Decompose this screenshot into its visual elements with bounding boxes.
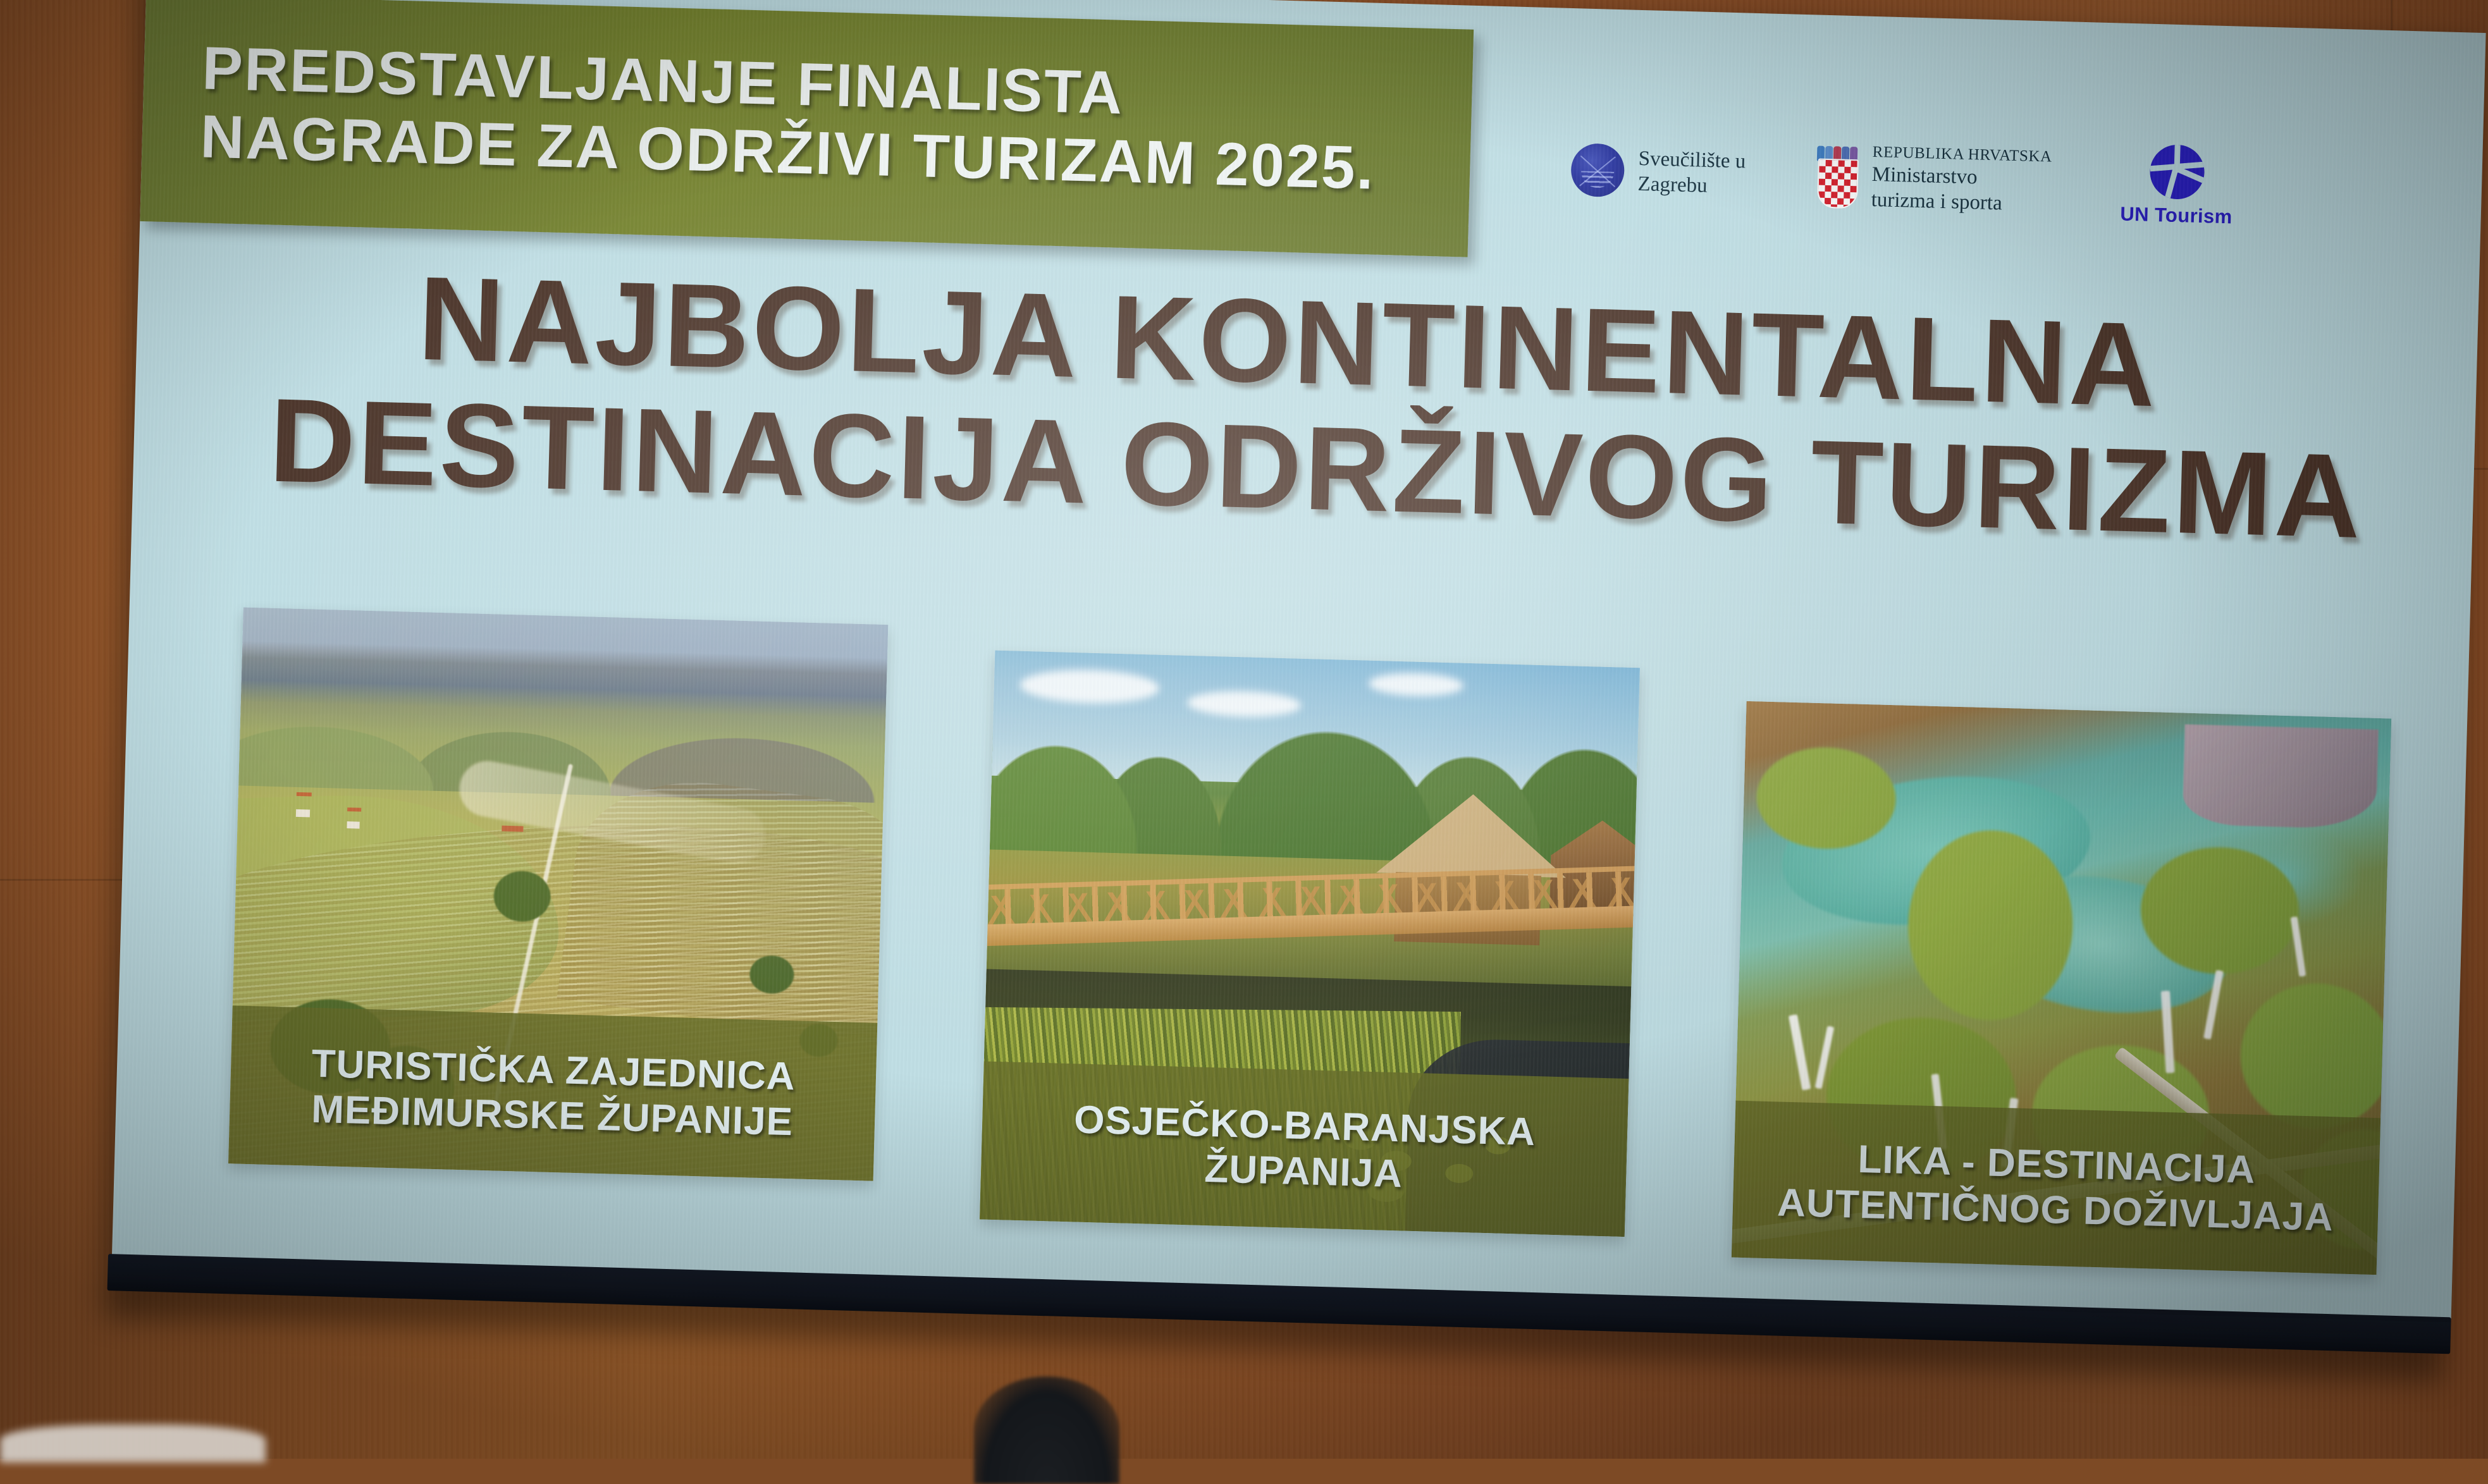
conference-room-scene: PREDSTAVLJANJE FINALISTA NAGRADE ZA ODRŽ… <box>0 0 2488 1459</box>
room-vignette <box>0 0 2488 1459</box>
foreground-object-left <box>0 1425 266 1463</box>
audience-head-silhouette <box>974 1377 1119 1484</box>
